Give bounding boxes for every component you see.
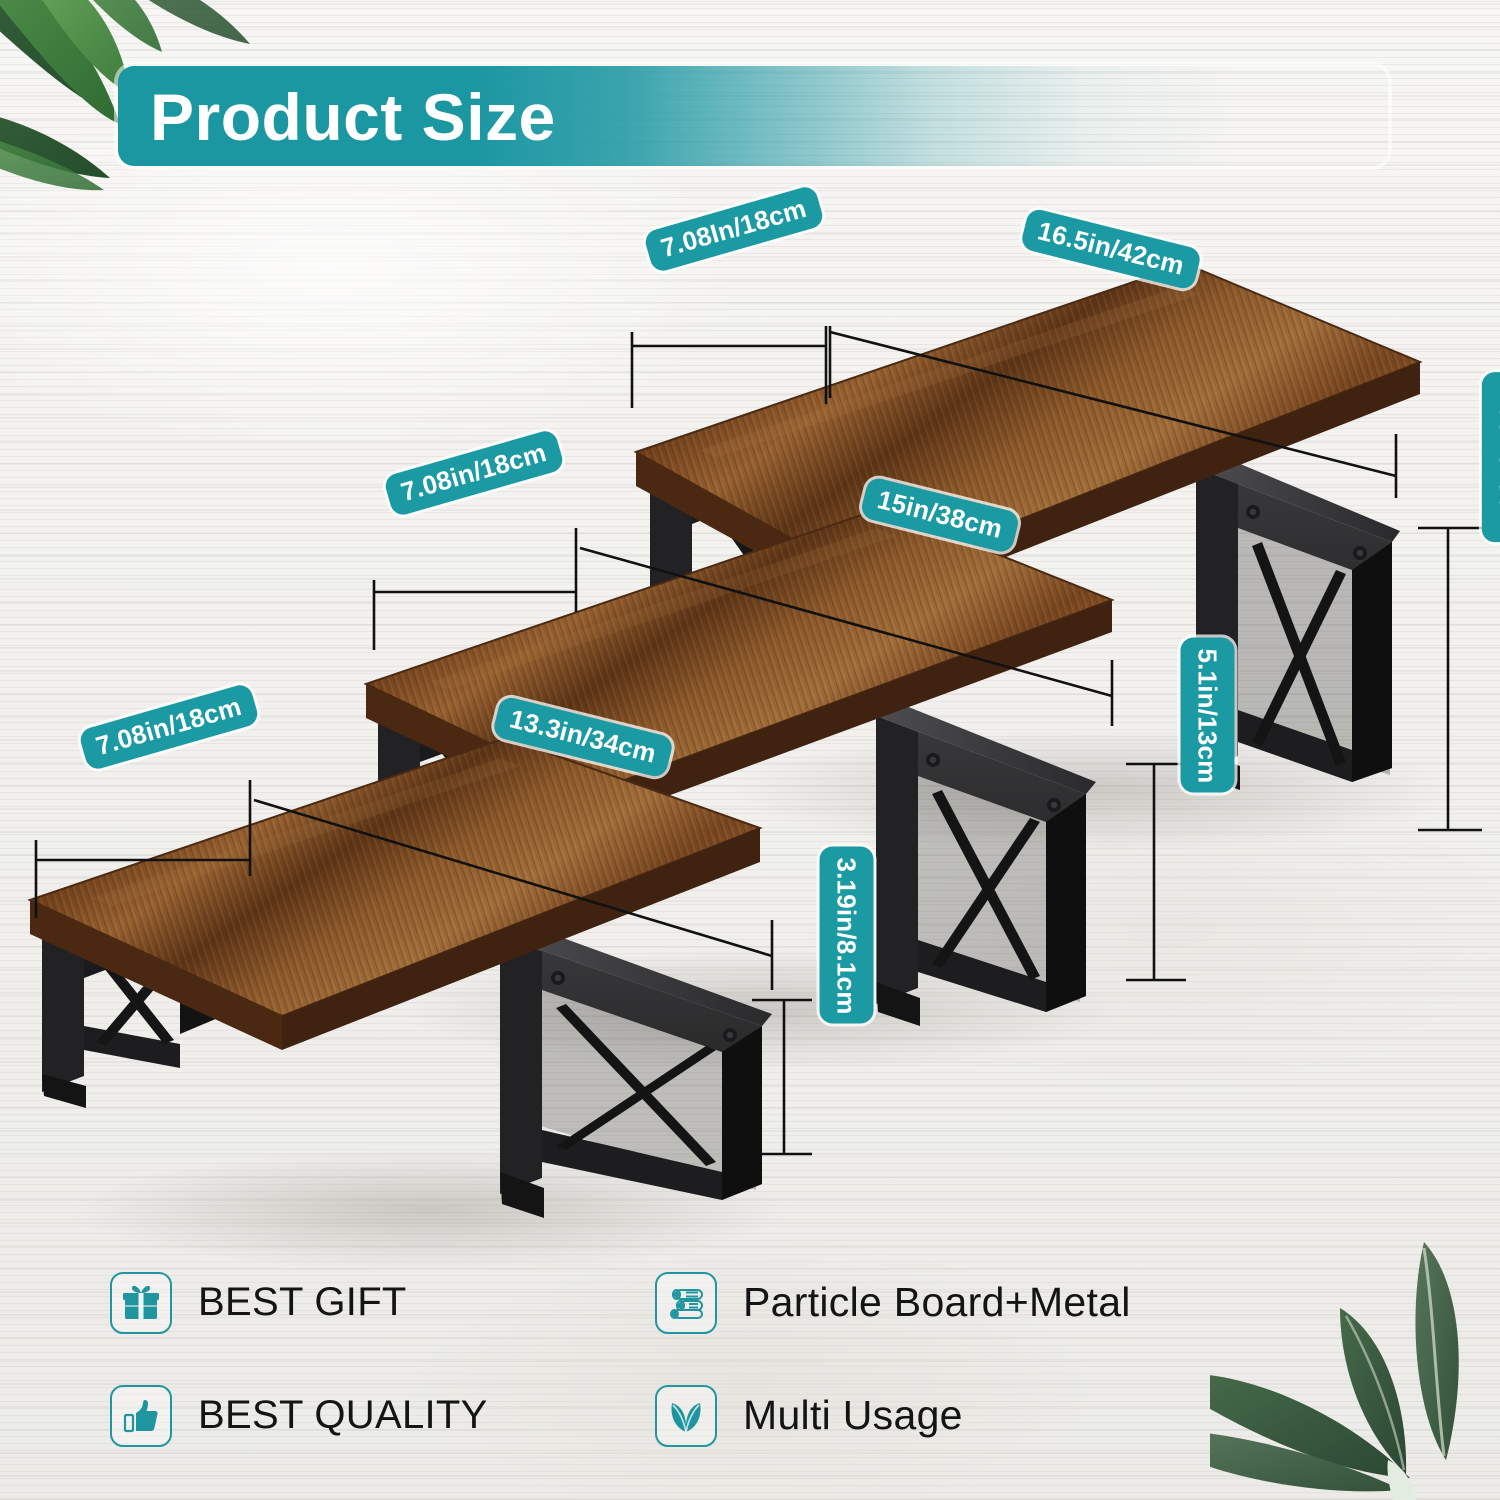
gift-icon bbox=[110, 1272, 172, 1334]
shelf-bottom bbox=[30, 738, 772, 1218]
wood-logs-icon bbox=[655, 1272, 717, 1334]
feature-list: BEST GIFT bbox=[110, 1250, 1350, 1468]
feature-label: BEST QUALITY bbox=[198, 1393, 488, 1438]
infographic-canvas: Product Size bbox=[0, 0, 1500, 1500]
feature-item-material: Particle Board+Metal bbox=[655, 1250, 1255, 1355]
feature-label: Particle Board+Metal bbox=[743, 1279, 1131, 1326]
feature-item-best-gift: BEST GIFT bbox=[110, 1250, 655, 1355]
page-title: Product Size bbox=[150, 74, 556, 160]
feature-label: Multi Usage bbox=[743, 1392, 963, 1439]
thumbs-up-icon bbox=[110, 1385, 172, 1447]
feature-item-multi-usage: Multi Usage bbox=[655, 1363, 1255, 1468]
feature-label: BEST GIFT bbox=[198, 1280, 407, 1325]
feature-item-best-quality: BEST QUALITY bbox=[110, 1363, 655, 1468]
leaves-icon bbox=[655, 1385, 717, 1447]
dimension-label-middle-height: 5.1in/13cm bbox=[1180, 638, 1234, 793]
dimension-label-bottom-height: 3.19in/8.1cm bbox=[820, 846, 874, 1023]
dimension-label-top-height: 7.08in/18cm bbox=[1482, 372, 1500, 542]
